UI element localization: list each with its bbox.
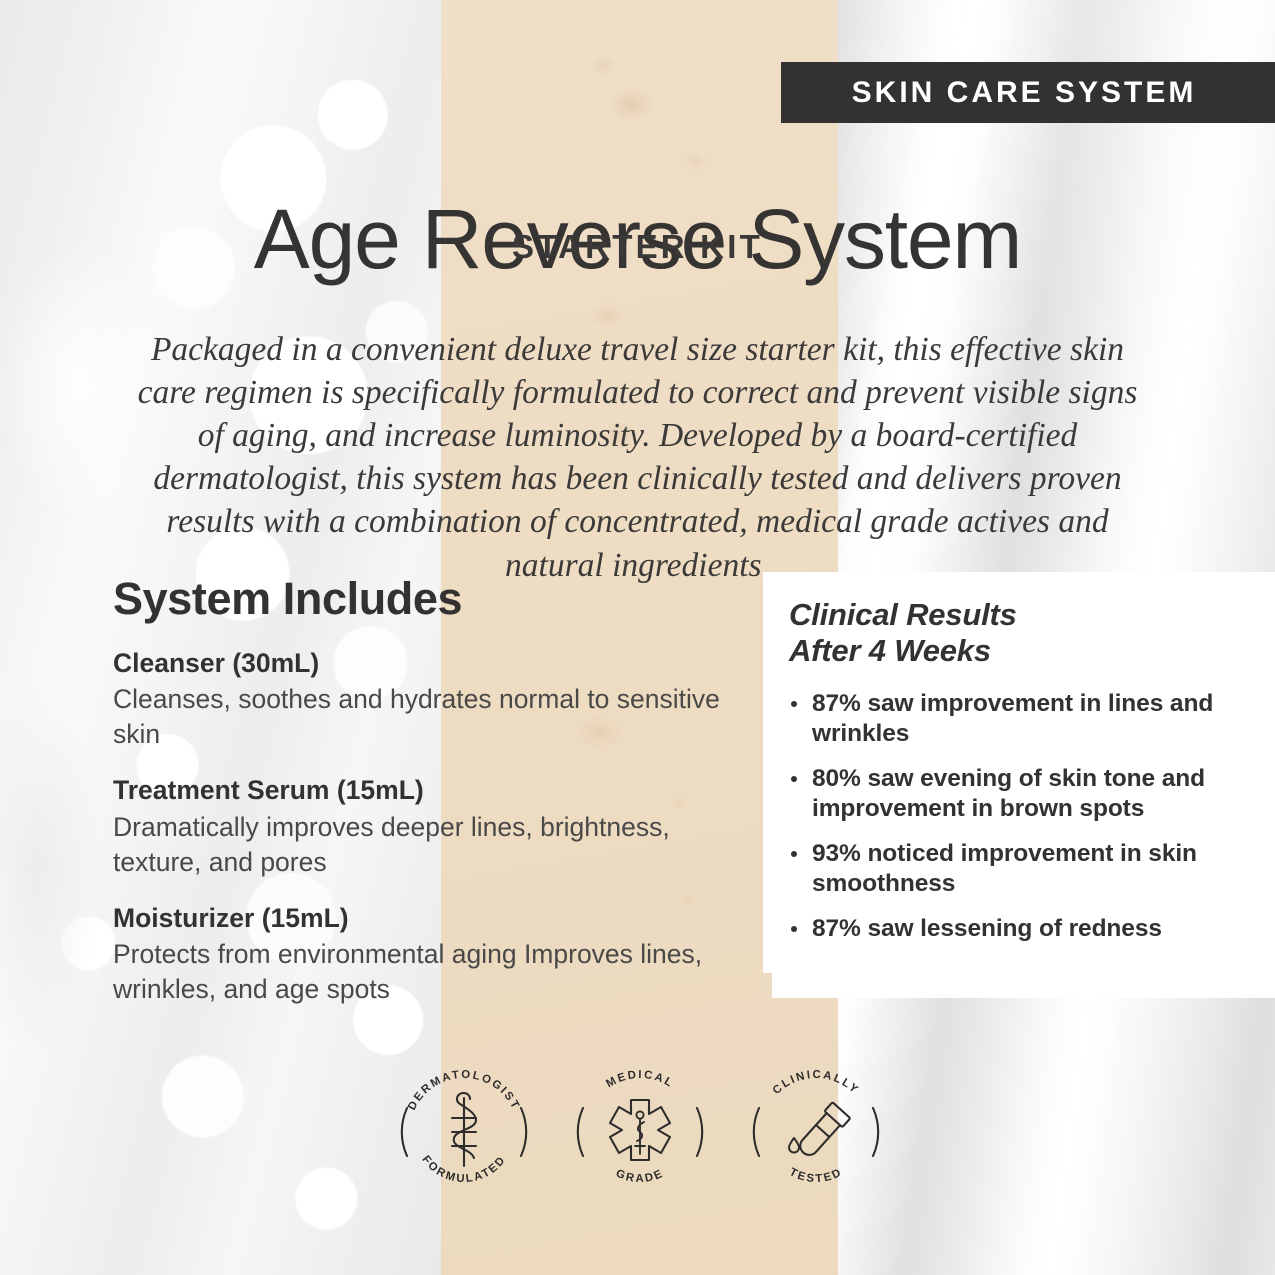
clinical-result-item: 87% saw improvement in lines and wrinkle…	[789, 689, 1235, 749]
star-of-life-staff-icon	[635, 1111, 645, 1154]
badge-right-bracket-icon	[697, 1108, 702, 1156]
product-name: Treatment Serum (15mL)	[113, 774, 723, 807]
clinical-result-item: 87% saw lessening of redness	[789, 914, 1235, 944]
product-description: Dramatically improves deeper lines, brig…	[113, 810, 723, 880]
clinical-result-item: 93% noticed improvement in skin smoothne…	[789, 839, 1235, 899]
bullet-dot-icon	[791, 926, 797, 932]
badge-top-label: CLINICALLY	[771, 1069, 862, 1097]
system-includes-section: System Includes Cleanser (30mL) Cleanses…	[113, 575, 723, 1007]
intro-paragraph: Packaged in a convenient deluxe travel s…	[131, 328, 1144, 587]
trust-badge-row: DERMATOLOGIST FORMULATED	[390, 1058, 890, 1206]
badge-top-label-text: CLINICALLY	[771, 1069, 862, 1097]
clinical-results-heading-line2: After 4 Weeks	[789, 633, 991, 668]
clinical-results-heading: Clinical Results After 4 Weeks	[789, 597, 1235, 669]
product-description: Protects from environmental aging Improv…	[113, 937, 723, 1007]
badge-clinically-tested: CLINICALLY TESTED	[742, 1058, 890, 1206]
bullet-dot-icon	[791, 701, 797, 707]
clinical-result-item: 80% saw evening of skin tone and improve…	[789, 764, 1235, 824]
badge-bottom-label: GRADE	[614, 1167, 666, 1185]
eyebrow-label: SKIN CARE SYSTEM	[852, 76, 1205, 110]
badge-bottom-label: TESTED	[787, 1166, 844, 1185]
clinical-results-content: Clinical Results After 4 Weeks 87% saw i…	[789, 597, 1235, 944]
clinical-results-list: 87% saw improvement in lines and wrinkle…	[789, 689, 1235, 944]
system-includes-heading: System Includes	[113, 575, 723, 622]
bullet-dot-icon	[791, 776, 797, 782]
badge-dermatologist-formulated: DERMATOLOGIST FORMULATED	[390, 1058, 538, 1206]
clinical-result-text: 93% noticed improvement in skin smoothne…	[812, 840, 1197, 897]
clinical-result-text: 87% saw improvement in lines and wrinkle…	[812, 690, 1213, 747]
product-name: Cleanser (30mL)	[113, 647, 723, 680]
droplet-icon	[789, 1138, 799, 1153]
badge-right-bracket-icon	[521, 1108, 526, 1156]
clinical-result-text: 80% saw evening of skin tone and improve…	[812, 765, 1205, 822]
page-subtitle: STARTER KIT	[0, 228, 1275, 266]
bullet-dot-icon	[791, 851, 797, 857]
product-item: Moisturizer (15mL) Protects from environ…	[113, 902, 723, 1007]
badge-left-bracket-icon	[578, 1108, 583, 1156]
product-item: Treatment Serum (15mL) Dramatically impr…	[113, 774, 723, 879]
product-name: Moisturizer (15mL)	[113, 902, 723, 935]
test-tube-icon	[794, 1102, 850, 1160]
badge-right-bracket-icon	[873, 1108, 878, 1156]
product-description: Cleanses, soothes and hydrates normal to…	[113, 682, 723, 752]
rod-of-asclepius-icon	[452, 1093, 476, 1166]
clinical-result-text: 87% saw lessening of redness	[812, 915, 1162, 942]
badge-medical-grade: MEDICAL GRADE	[566, 1058, 714, 1206]
product-item: Cleanser (30mL) Cleanses, soothes and hy…	[113, 647, 723, 752]
eyebrow-banner: SKIN CARE SYSTEM	[781, 62, 1275, 123]
badge-top-label: MEDICAL	[604, 1069, 676, 1091]
badge-left-bracket-icon	[754, 1108, 759, 1156]
content-layer: SKIN CARE SYSTEM Age Reverse System STAR…	[0, 0, 1275, 1275]
badge-top-label-text: MEDICAL	[604, 1069, 676, 1091]
badge-bottom-label-text: GRADE	[614, 1167, 666, 1185]
product-poster: SKIN CARE SYSTEM Age Reverse System STAR…	[0, 0, 1275, 1275]
badge-bottom-label-text: TESTED	[787, 1166, 844, 1185]
badge-left-bracket-icon	[402, 1108, 407, 1156]
clinical-results-heading-line1: Clinical Results	[789, 597, 1017, 632]
clinical-results-card-notch	[763, 973, 772, 998]
